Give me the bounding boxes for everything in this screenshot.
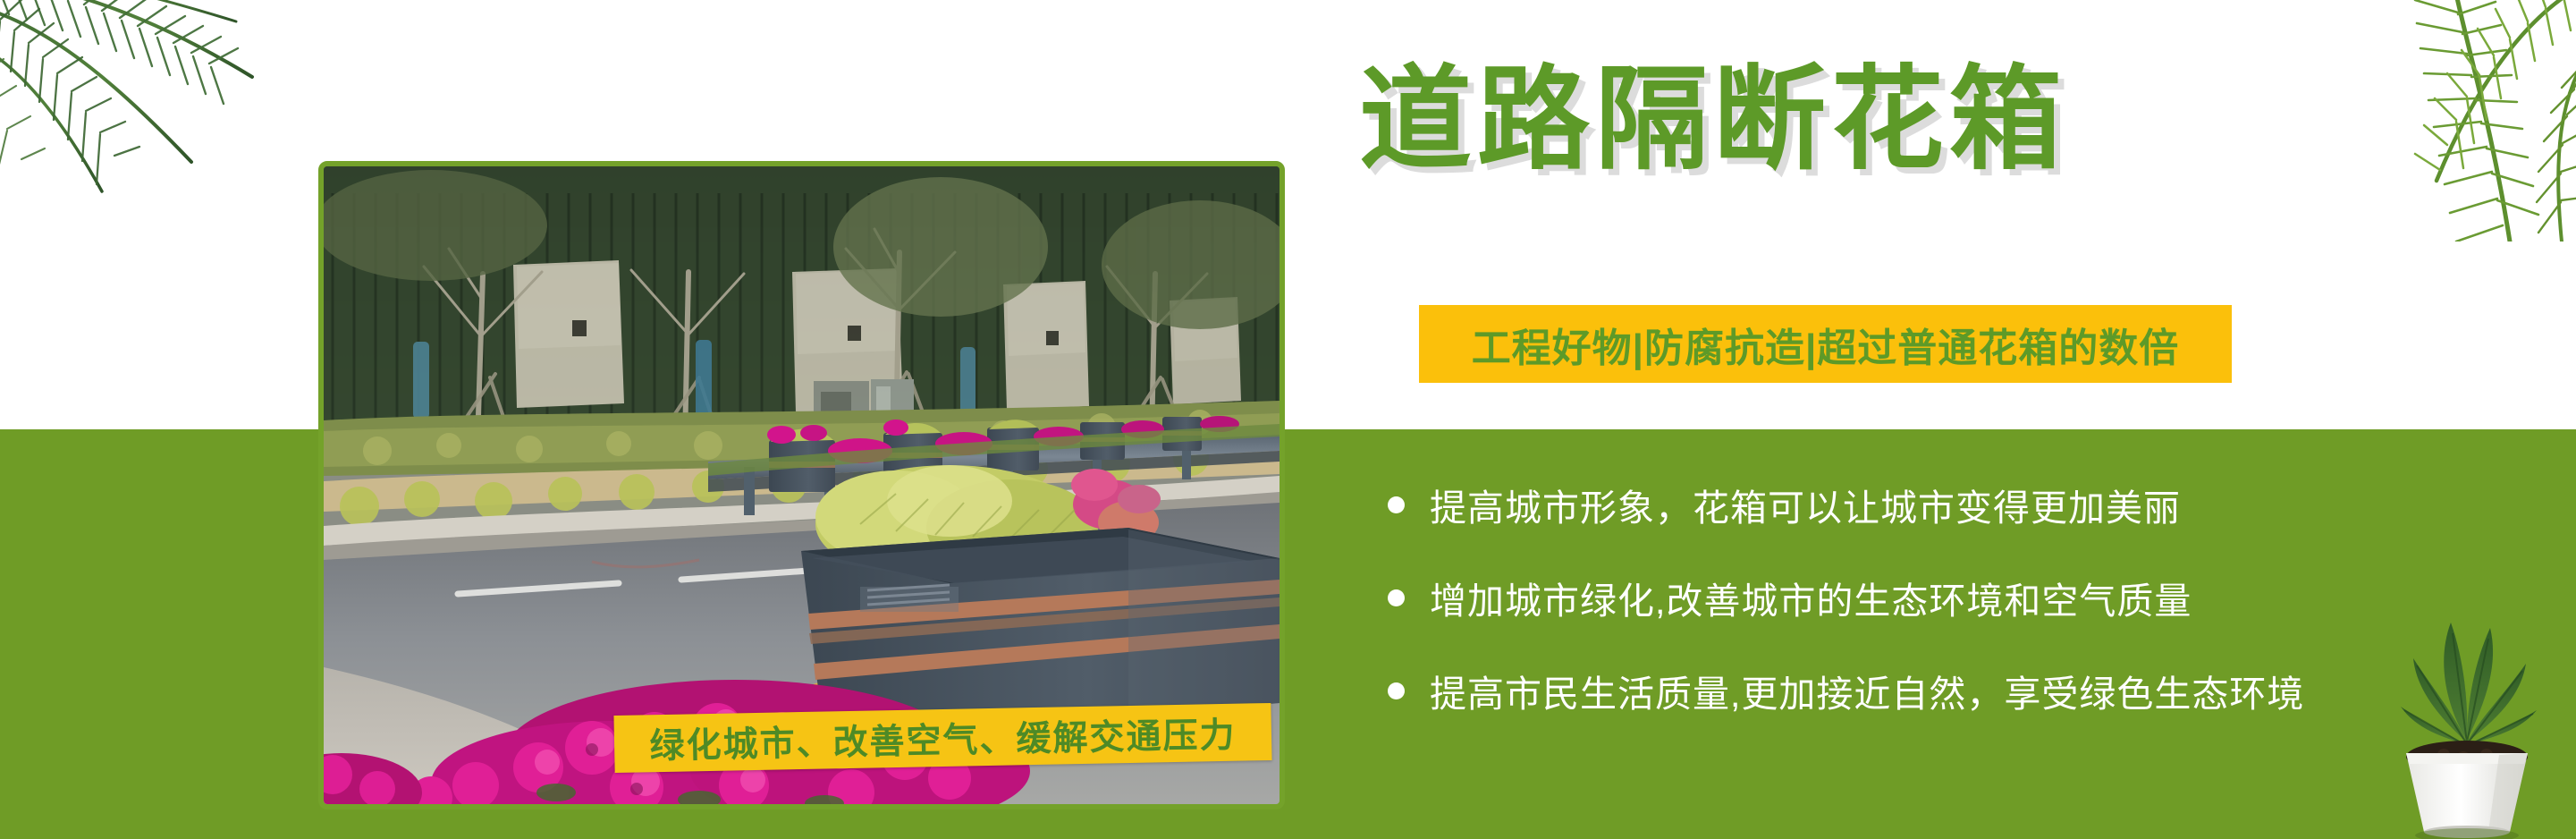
subtitle-badge: 工程好物|防腐抗造|超过普通花箱的数倍 <box>1419 305 2232 383</box>
list-item: 提高市民生活质量,更加接近自然，享受绿色生态环境 <box>1388 644 2568 737</box>
list-item: 增加城市绿化,改善城市的生态环境和空气质量 <box>1388 551 2568 644</box>
bullet-dot-icon <box>1388 589 1405 606</box>
list-item-label: 增加城市绿化,改善城市的生态环境和空气质量 <box>1430 571 2192 624</box>
bullet-dot-icon <box>1388 682 1405 699</box>
list-item-label: 提高城市形象，花箱可以让城市变得更加美丽 <box>1430 478 2181 531</box>
page-title: 道路隔断花箱 <box>1359 55 2067 185</box>
feature-list: 提高城市形象，花箱可以让城市变得更加美丽 增加城市绿化,改善城市的生态环境和空气… <box>1388 458 2568 737</box>
subtitle-text: 工程好物|防腐抗造|超过普通花箱的数倍 <box>1472 316 2180 373</box>
list-item: 提高城市形象，花箱可以让城市变得更加美丽 <box>1388 458 2568 551</box>
bullet-dot-icon <box>1388 496 1405 513</box>
photo-caption-text: 绿化城市、改善空气、缓解交通压力 <box>649 708 1237 769</box>
palm-leaf-icon <box>2267 0 2576 242</box>
promo-banner: 绿化城市、改善空气、缓解交通压力 道路隔断花箱 工程好物|防腐抗造|超过普通花箱… <box>0 0 2576 839</box>
list-item-label: 提高市民生活质量,更加接近自然，享受绿色生态环境 <box>1430 664 2304 717</box>
road-divider-flower-box-photo: 绿化城市、改善空气、缓解交通压力 <box>318 161 1285 809</box>
palm-leaf-icon <box>0 0 263 193</box>
